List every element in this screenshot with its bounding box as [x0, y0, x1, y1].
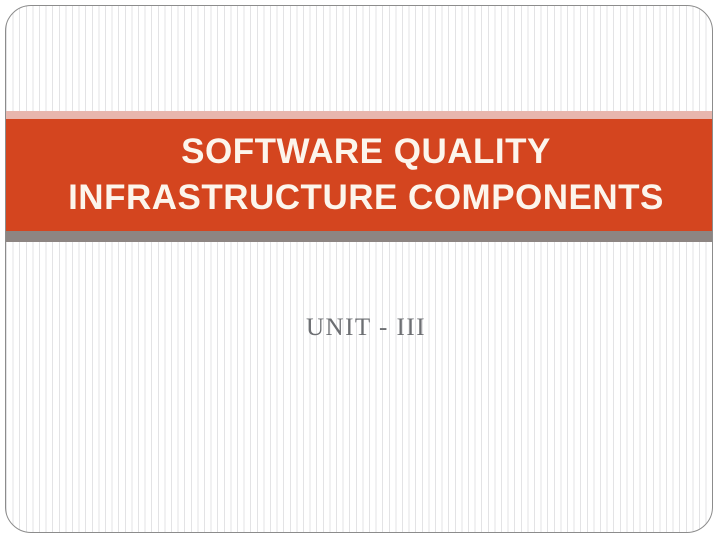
banner-accent-stripe-top — [6, 111, 713, 119]
slide-title-line-1: SOFTWARE QUALITY — [181, 129, 551, 175]
title-banner: SOFTWARE QUALITY INFRASTRUCTURE COMPONEN… — [6, 111, 713, 242]
slide-title-line-2: INFRASTRUCTURE COMPONENTS — [68, 175, 664, 221]
banner-accent-stripe-bottom — [6, 231, 713, 242]
slide-subtitle-container: UNIT - III — [6, 314, 713, 342]
slide-canvas: SOFTWARE QUALITY INFRASTRUCTURE COMPONEN… — [0, 0, 720, 540]
banner-title-block: SOFTWARE QUALITY INFRASTRUCTURE COMPONEN… — [6, 119, 713, 231]
slide-subtitle: UNIT - III — [306, 314, 426, 342]
slide-paper-background: SOFTWARE QUALITY INFRASTRUCTURE COMPONEN… — [5, 5, 713, 533]
